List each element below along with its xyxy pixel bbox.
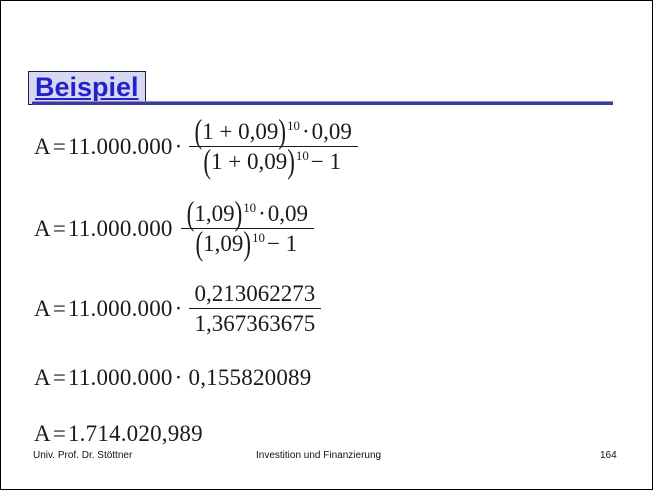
slide-footer: Univ. Prof. Dr. Stöttner Investition und… [1, 450, 653, 466]
paren-close-icon: ) [243, 224, 251, 263]
equation-1-lhs: A [34, 134, 51, 160]
paren-close-icon: ) [235, 194, 243, 233]
title-divider [32, 101, 613, 105]
equation-1-den-tail: − 1 [309, 149, 343, 174]
equation-1-num-base: 1 + 0,09 [202, 119, 278, 144]
equation-2-num-exponent: 10 [243, 201, 256, 215]
page-title: Beispiel [35, 72, 139, 102]
equation-1: A = 11.000.000 · (1 + 0,09)10·0,09 (1 + … [34, 118, 358, 175]
equation-4-result: 0,155820089 [189, 365, 312, 391]
equation-1-num-tail: 0,09 [312, 119, 352, 144]
equation-4-multiply: · [173, 365, 185, 391]
equation-1-num-exponent: 10 [287, 119, 300, 133]
paren-open-icon: ( [195, 112, 203, 151]
paren-open-icon: ( [187, 194, 195, 233]
equation-2-num-mult: · [256, 201, 268, 226]
equation-1-multiply: · [173, 134, 185, 160]
equation-2-den-exponent: 10 [252, 231, 265, 245]
equation-4-equals: = [51, 365, 68, 391]
equation-2-lhs: A [34, 216, 51, 242]
footer-course-title: Investition und Finanzierung [256, 450, 381, 461]
equation-2-fraction: (1,09)10·0,09 (1,09)10− 1 [181, 200, 314, 257]
equation-4: A = 11.000.000 · 0,155820089 [34, 365, 311, 391]
equation-3-fraction: 0,213062273 1,367363675 [189, 280, 322, 337]
equation-4-lhs: A [34, 365, 51, 391]
equation-2-equals: = [51, 216, 68, 242]
equation-4-factor: 11.000.000 [68, 365, 173, 391]
equation-1-denominator: (1 + 0,09)10− 1 [197, 147, 349, 175]
equation-2-den-base: 1,09 [203, 231, 243, 256]
equation-1-den-base: 1 + 0,09 [211, 149, 287, 174]
equation-5: A = 1.714.020,989 [34, 421, 203, 447]
footer-page-number: 164 [600, 450, 617, 461]
equation-3-lhs: A [34, 296, 51, 322]
paren-close-icon: ) [278, 112, 286, 151]
equation-1-fraction: (1 + 0,09)10·0,09 (1 + 0,09)10− 1 [189, 118, 358, 175]
equation-5-result: 1.714.020,989 [68, 421, 203, 447]
equation-3: A = 11.000.000 · 0,213062273 1,367363675 [34, 280, 321, 337]
equation-3-numerator: 0,213062273 [189, 280, 322, 309]
equation-3-multiply: · [173, 296, 185, 322]
equation-3-equals: = [51, 296, 68, 322]
equation-2-factor: 11.000.000 [68, 216, 173, 242]
equation-2-num-tail: 0,09 [268, 201, 308, 226]
equation-2-num-base: 1,09 [194, 201, 234, 226]
equation-1-factor: 11.000.000 [68, 134, 173, 160]
equation-3-factor: 11.000.000 [68, 296, 173, 322]
equation-2-den-tail: − 1 [265, 231, 299, 256]
equation-5-lhs: A [34, 421, 51, 447]
paren-open-icon: ( [195, 224, 203, 263]
equation-2-denominator: (1,09)10− 1 [189, 229, 305, 257]
paren-open-icon: ( [203, 142, 211, 181]
equation-1-num-mult: · [300, 119, 312, 144]
equation-1-equals: = [51, 134, 68, 160]
paren-close-icon: ) [287, 142, 295, 181]
equation-5-equals: = [51, 421, 68, 447]
slide-title-box: Beispiel [28, 71, 146, 105]
equation-3-denominator: 1,367363675 [189, 309, 322, 337]
footer-author: Univ. Prof. Dr. Stöttner [33, 450, 132, 461]
equation-2: A = 11.000.000 (1,09)10·0,09 (1,09)10− 1 [34, 200, 314, 257]
equation-1-numerator: (1 + 0,09)10·0,09 [189, 118, 358, 147]
slide: Beispiel A = 11.000.000 · (1 + 0,09)10·0… [0, 0, 653, 490]
equation-1-den-exponent: 10 [296, 149, 309, 163]
